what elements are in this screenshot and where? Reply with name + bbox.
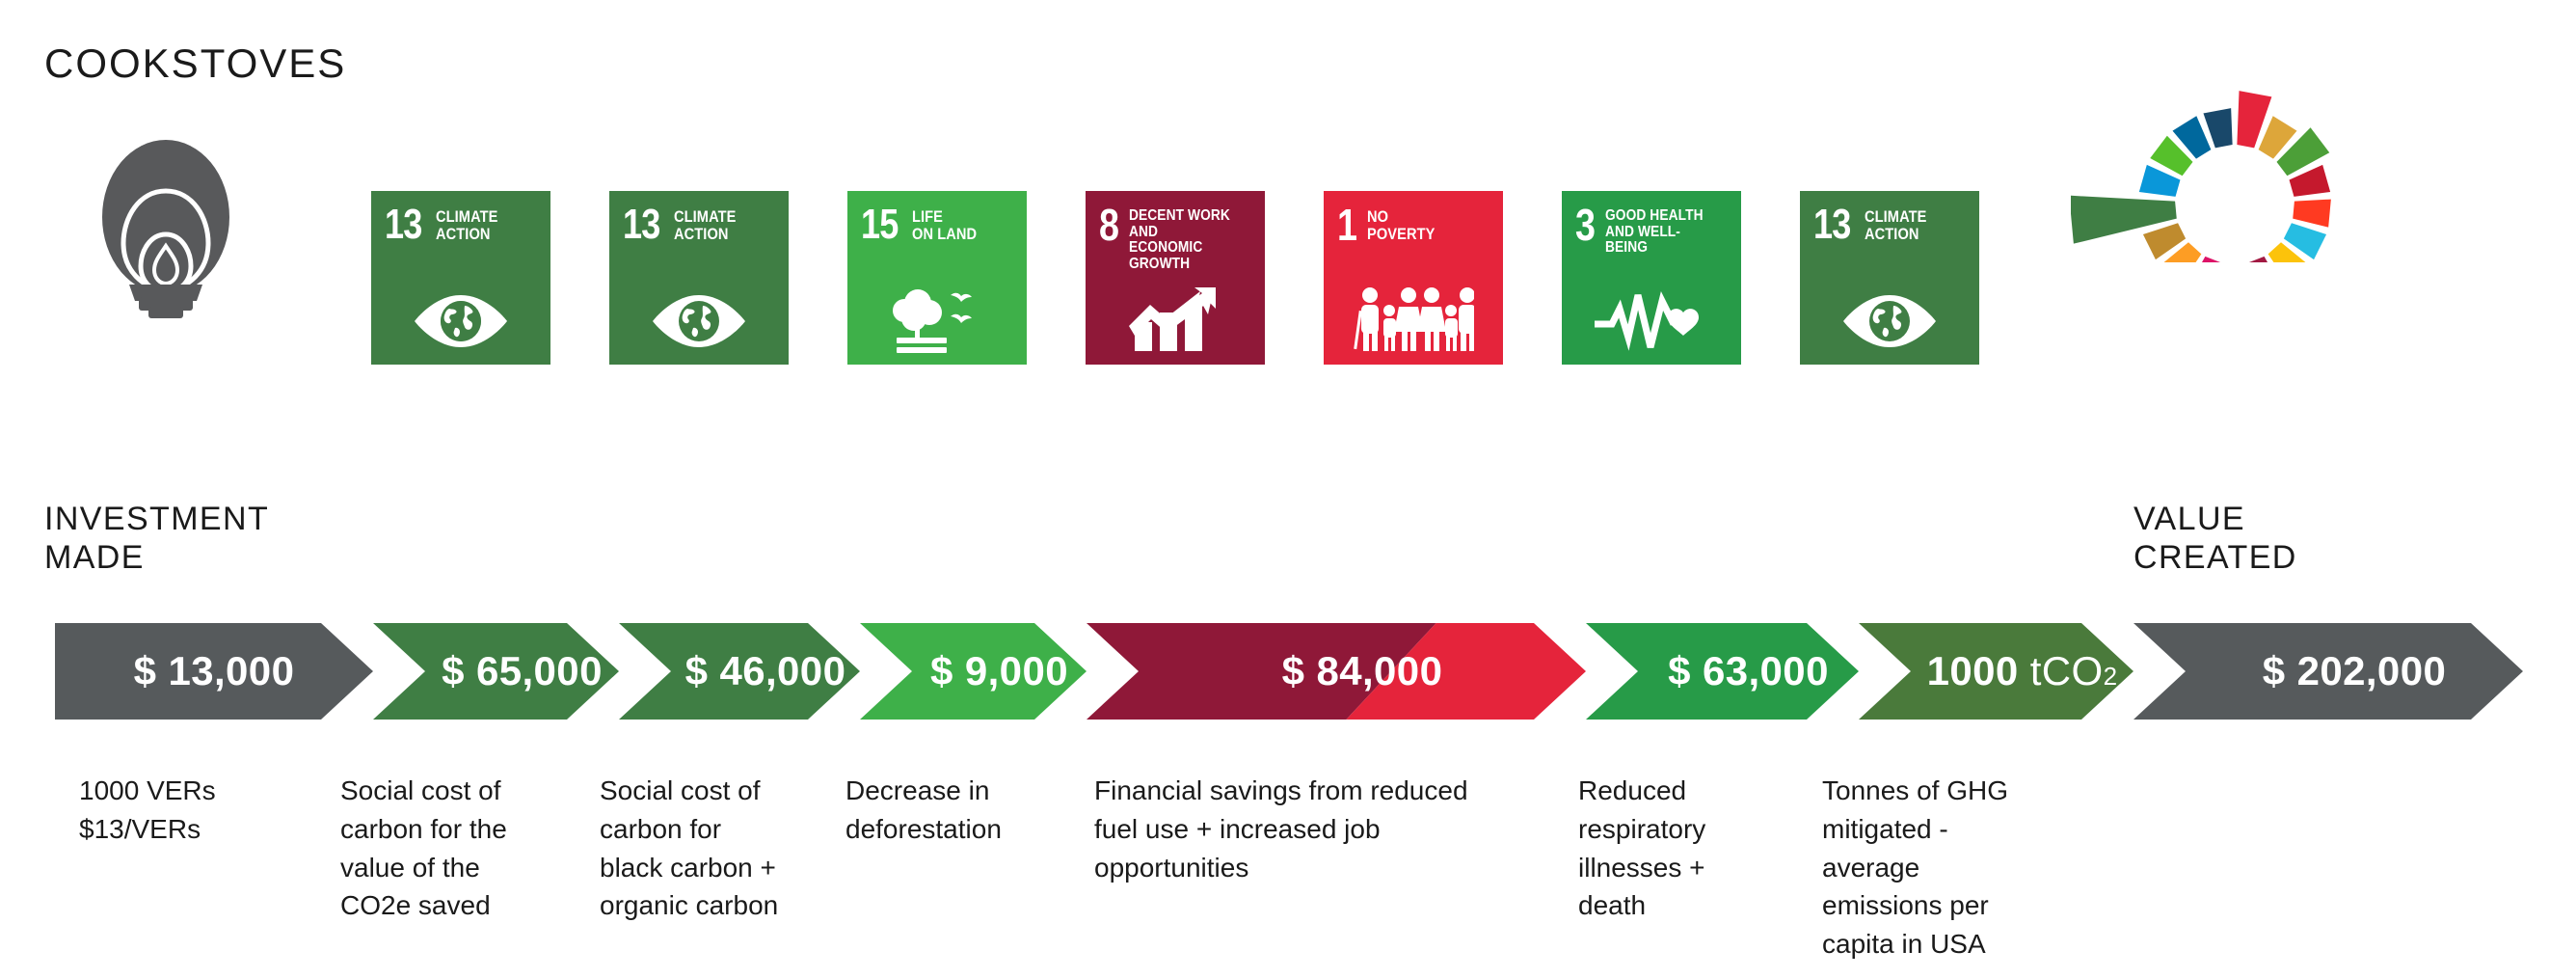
note-7: Tonnes of GHG mitigated - average emissi… <box>1822 772 2063 964</box>
sdg-label: DECENT WORK AND ECONOMIC GROWTH <box>1129 208 1247 273</box>
sdg-label: CLIMATE ACTION <box>674 208 736 242</box>
sdg-label: CLIMATE ACTION <box>1865 208 1926 242</box>
footnote-row: 1000 VERs $13/VERs Social cost of carbon… <box>0 772 2576 964</box>
sdg-label: NO POVERTY <box>1367 208 1435 242</box>
note-3: Social cost of carbon for black carbon +… <box>600 772 841 925</box>
sdg-badge-13b[interactable]: 13 CLIMATE ACTION <box>609 191 789 365</box>
sdg-number: 13 <box>385 206 422 242</box>
infographic-page: COOKSTOVES 13 CLIMATE ACTION <box>0 0 2576 978</box>
sdg-number: 13 <box>1813 206 1851 242</box>
family-group-icon <box>1324 285 1503 353</box>
sdg-color-wheel-icon <box>2071 41 2399 262</box>
sdg-badge-15[interactable]: 15 LIFE ON LAND <box>847 191 1027 365</box>
sdg-badge-3[interactable]: 3 GOOD HEALTH AND WELL-BEING <box>1562 191 1741 365</box>
cookstove-flame-icon <box>69 135 262 318</box>
flow-chevron[interactable] <box>373 623 619 720</box>
sdg-label: GOOD HEALTH AND WELL-BEING <box>1605 208 1723 257</box>
sdg-label: LIFE ON LAND <box>912 208 977 242</box>
sdg-label: CLIMATE ACTION <box>436 208 497 242</box>
value-flow-ribbon <box>0 615 2576 727</box>
note-1: 1000 VERs $13/VERs <box>79 772 272 849</box>
sdg-number: 13 <box>623 206 660 242</box>
tree-birds-icon <box>847 282 1027 353</box>
sdg-badge-1[interactable]: 1 NO POVERTY <box>1324 191 1503 365</box>
growth-chart-arrow-icon <box>1086 285 1265 353</box>
note-5: Financial savings from reduced fuel use … <box>1094 772 1576 886</box>
sdg-number: 1 <box>1337 206 1356 244</box>
eye-globe-icon <box>371 289 550 353</box>
wheel-segment <box>2293 200 2331 228</box>
eye-globe-icon <box>1800 289 1979 353</box>
flow-chevron[interactable] <box>55 623 373 720</box>
sdg-number: 15 <box>861 206 899 242</box>
investment-made-caption: INVESTMENT MADE <box>44 500 269 577</box>
sdg-number: 3 <box>1575 206 1595 244</box>
flow-chevron[interactable] <box>2133 623 2523 720</box>
page-title: COOKSTOVES <box>44 41 346 87</box>
flow-chevron[interactable] <box>1586 623 1859 720</box>
flow-chevron[interactable] <box>860 623 1087 720</box>
wheel-segment <box>2203 108 2232 148</box>
heartbeat-icon <box>1562 285 1741 353</box>
sdg-badge-8[interactable]: 8 DECENT WORK AND ECONOMIC GROWTH <box>1086 191 1265 365</box>
flow-chevron[interactable] <box>619 623 860 720</box>
sdg-badge-13c[interactable]: 13 CLIMATE ACTION <box>1800 191 1979 365</box>
flow-chevron[interactable] <box>1859 623 2133 720</box>
sdg-number: 8 <box>1099 206 1118 244</box>
note-2: Social cost of carbon for the value of t… <box>340 772 562 925</box>
sdg-badge-13a[interactable]: 13 CLIMATE ACTION <box>371 191 550 365</box>
eye-globe-icon <box>609 289 789 353</box>
note-4: Decrease in deforestation <box>845 772 1077 849</box>
note-6: Reduced respiratory illnesses + death <box>1578 772 1771 925</box>
value-created-caption: VALUE CREATED <box>2133 500 2297 577</box>
